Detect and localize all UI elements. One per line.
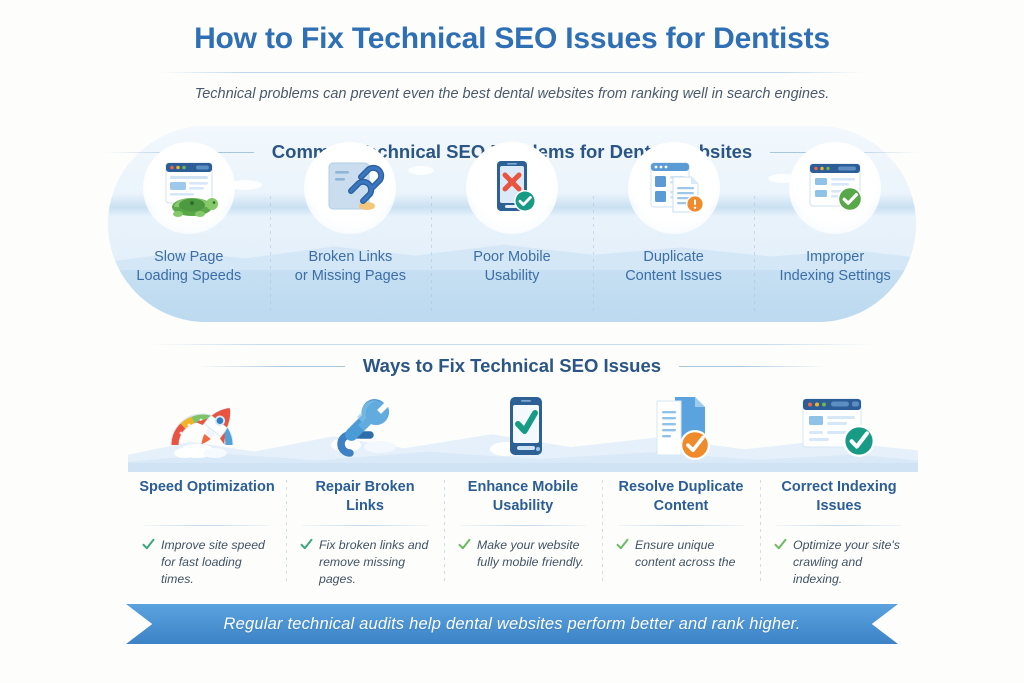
- solution-detail-item: Fix broken links and remove missing page…: [296, 537, 434, 588]
- check-icon: [458, 538, 471, 556]
- caption-line-1: Broken Links: [295, 248, 406, 267]
- solution-title-line-2: Issues: [770, 497, 908, 516]
- caption-line-2: Content Issues: [625, 267, 722, 286]
- solution-icon-indexing: [760, 386, 918, 476]
- solution-title-divider: [144, 525, 270, 526]
- solution-column-mobile[interactable]: Enhance Mobile Usability Make your websi…: [444, 478, 602, 586]
- solution-title-line-1: Enhance Mobile: [454, 478, 592, 497]
- solution-icon-mobile: [444, 386, 602, 476]
- solution-title-divider: [302, 525, 428, 526]
- problem-caption: Slow Page Loading Speeds: [136, 248, 241, 286]
- solution-icon-duplicate: [602, 386, 760, 476]
- problem-item-slow-page[interactable]: Slow Page Loading Speeds: [108, 140, 270, 320]
- title-divider: [160, 72, 864, 73]
- solutions-text-row: Speed Optimization Improve site speed fo…: [128, 478, 918, 586]
- solution-title: Enhance Mobile Usability: [454, 478, 592, 518]
- problem-caption: Broken Links or Missing Pages: [295, 248, 406, 286]
- solution-detail-text: Ensure unique content across the: [635, 537, 750, 571]
- infographic-page: How to Fix Technical SEO Issues for Dent…: [0, 0, 1024, 683]
- solution-detail-text: Improve site speed for fast loading time…: [161, 537, 276, 588]
- solutions-icon-row: [128, 386, 918, 476]
- page-title: How to Fix Technical SEO Issues for Dent…: [0, 22, 1024, 56]
- solution-title-line-1: Resolve Duplicate: [612, 478, 750, 497]
- problem-caption: Improper Indexing Settings: [780, 248, 891, 286]
- slow-turtle-browser-icon: [143, 142, 235, 234]
- solution-detail-text: Make your website fully mobile friendly.: [477, 537, 592, 571]
- solution-column-duplicate[interactable]: Resolve Duplicate Content Ensure unique …: [602, 478, 760, 586]
- indexing-browser-check-icon: [789, 142, 881, 234]
- check-icon: [774, 538, 787, 556]
- solution-icon-speed: [128, 386, 286, 476]
- solution-detail-item: Ensure unique content across the: [612, 537, 750, 571]
- caption-line-1: Slow Page: [136, 248, 241, 267]
- broken-link-chain-icon: [304, 142, 396, 234]
- caption-line-1: Poor Mobile: [473, 248, 550, 267]
- solution-title: Speed Optimization: [138, 478, 276, 518]
- heading-rule-left: [197, 366, 345, 367]
- caption-line-2: Indexing Settings: [780, 267, 891, 286]
- solution-column-repair[interactable]: Repair Broken Links Fix broken links and…: [286, 478, 444, 586]
- solution-detail-item: Optimize your site's crawling and indexi…: [770, 537, 908, 588]
- caption-line-2: Usability: [473, 267, 550, 286]
- footer-ribbon-banner: Regular technical audits help dental web…: [126, 604, 898, 644]
- speedometer-rocket-icon: [157, 387, 257, 472]
- problem-caption: Poor Mobile Usability: [473, 248, 550, 286]
- solution-title-line-2: Usability: [454, 497, 592, 516]
- footer-ribbon-text: Regular technical audits help dental web…: [223, 615, 800, 634]
- wrench-link-repair-icon: [320, 387, 410, 472]
- solution-title: Repair Broken Links: [296, 478, 434, 518]
- problem-item-poor-mobile[interactable]: Poor Mobile Usability: [431, 140, 593, 320]
- solution-title: Correct Indexing Issues: [770, 478, 908, 518]
- caption-line-2: or Missing Pages: [295, 267, 406, 286]
- solution-column-speed[interactable]: Speed Optimization Improve site speed fo…: [128, 478, 286, 586]
- heading-rule-right: [679, 366, 827, 367]
- browser-check-icon: [795, 387, 883, 472]
- solution-title-divider: [776, 525, 902, 526]
- caption-line-1: Duplicate: [625, 248, 722, 267]
- document-check-icon: [641, 387, 721, 472]
- solution-detail-item: Improve site speed for fast loading time…: [138, 537, 276, 588]
- mobile-error-icon: [466, 142, 558, 234]
- solution-detail-item: Make your website fully mobile friendly.: [454, 537, 592, 571]
- problem-item-improper-indexing[interactable]: Improper Indexing Settings: [754, 140, 916, 320]
- duplicate-documents-icon: [628, 142, 720, 234]
- check-icon: [300, 538, 313, 556]
- problem-item-broken-links[interactable]: Broken Links or Missing Pages: [270, 140, 432, 320]
- solutions-section-heading: Ways to Fix Technical SEO Issues: [0, 355, 1024, 377]
- section-divider: [150, 344, 874, 345]
- solution-title-divider: [460, 525, 586, 526]
- problem-item-duplicate-content[interactable]: Duplicate Content Issues: [593, 140, 755, 320]
- solutions-heading-label: Ways to Fix Technical SEO Issues: [363, 355, 661, 377]
- solution-title-divider: [618, 525, 744, 526]
- solution-detail-text: Optimize your site's crawling and indexi…: [793, 537, 908, 588]
- check-icon: [616, 538, 629, 556]
- solution-title: Resolve Duplicate Content: [612, 478, 750, 518]
- caption-line-2: Loading Speeds: [136, 267, 241, 286]
- page-subtitle: Technical problems can prevent even the …: [0, 86, 1024, 102]
- check-icon: [142, 538, 155, 556]
- solution-title-line-1: Repair Broken Links: [296, 478, 434, 516]
- solution-column-indexing[interactable]: Correct Indexing Issues Optimize your si…: [760, 478, 918, 586]
- problem-caption: Duplicate Content Issues: [625, 248, 722, 286]
- caption-line-1: Improper: [780, 248, 891, 267]
- problems-item-row: Slow Page Loading Speeds: [108, 140, 916, 320]
- mobile-check-icon: [484, 387, 562, 472]
- solution-title-line-1: Correct Indexing: [770, 478, 908, 497]
- solution-icon-repair: [286, 386, 444, 476]
- solution-detail-text: Fix broken links and remove missing page…: [319, 537, 434, 588]
- solution-title-line-2: Content: [612, 497, 750, 516]
- solution-title-line-1: Speed Optimization: [138, 478, 276, 497]
